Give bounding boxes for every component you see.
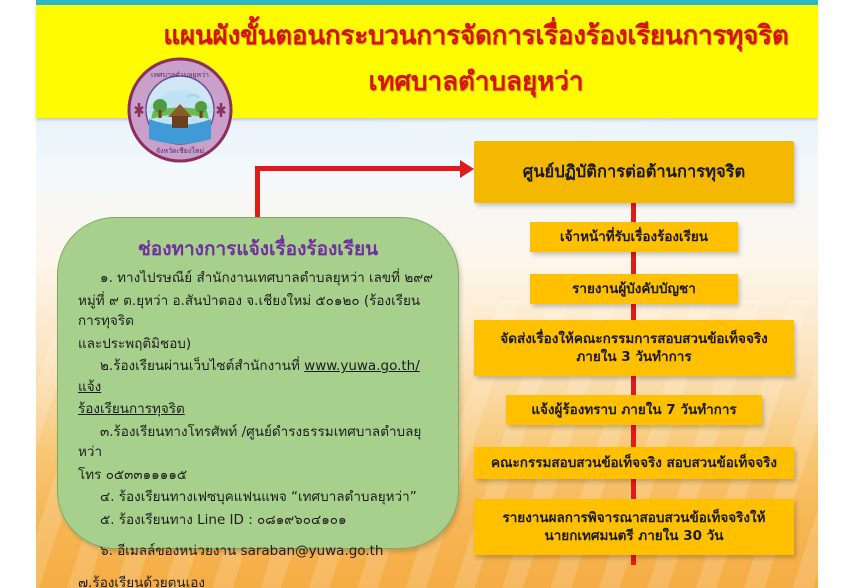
seal-icon: เทศบาลตำบลยุหว่า จังหวัดเชียงใหม่ (127, 57, 233, 163)
poster-canvas: แผนผังขั้นตอนกระบวนการจัดการเรื่องร้องเร… (0, 0, 850, 588)
connector-arrowhead (460, 160, 474, 178)
flow-step-4[interactable]: แจ้งผู้ร้องทราบ ภายใน 7 วันทำการ (506, 395, 762, 425)
channel-item-1-line3: และประพฤติมิชอบ) (78, 334, 442, 355)
flow-step-4-label: แจ้งผู้ร้องทราบ ภายใน 7 วันทำการ (531, 401, 736, 419)
svg-text:เทศบาลตำบลยุหว่า: เทศบาลตำบลยุหว่า (151, 71, 209, 79)
channel-item-5-line: ๕. ร้องเรียนทาง Line ID : ๐๘๑๙๖๐๔๑๐๑ (78, 510, 442, 531)
complaint-channels-panel: ช่องทางการแจ้งเรื่องร้องเรียน ๑. ทางไปรษ… (57, 217, 459, 549)
svg-text:จังหวัดเชียงใหม่: จังหวัดเชียงใหม่ (156, 146, 204, 155)
flow-step-5-label: คณะกรรมสอบสวนข้อเท็จจริง สอบสวนข้อเท็จจร… (491, 454, 777, 472)
flow-step-6-label-line2: นายกเทศมนตรี ภายใน 30 วัน (502, 527, 765, 545)
connector-step3-to-step4 (631, 374, 636, 397)
flow-step-3[interactable]: จัดส่งเรื่องให้คณะกรรมการสอบสวนข้อเท็จจร… (474, 320, 794, 376)
municipal-seal-logo: เทศบาลตำบลยุหว่า จังหวัดเชียงใหม่ (127, 57, 233, 163)
flow-step-3-label-line1: จัดส่งเรื่องให้คณะกรรมการสอบสวนข้อเท็จจร… (500, 330, 767, 348)
channel-item-7-inperson: ๗.ร้องเรียนด้วยตนเอง (78, 573, 442, 588)
channel-item-1-line1: ๑. ทางไปรษณีย์ สำนักงานเทศบาลตำบลยุหว่า … (78, 268, 442, 289)
flow-step-2[interactable]: รายงานผู้บังคับบัญชา (530, 274, 738, 304)
connector-step4-to-step5 (631, 423, 636, 449)
flow-step-3-label-line2: ภายใน 3 วันทำการ (500, 348, 767, 366)
flow-step-5[interactable]: คณะกรรมสอบสวนข้อเท็จจริง สอบสวนข้อเท็จจร… (474, 447, 794, 479)
channels-panel-title: ช่องทางการแจ้งเรื่องร้องเรียน (58, 234, 458, 264)
channel-item-4-facebook: ๔. ร้องเรียนทางเฟซบุคแฟนแพจ “เทศบาลตำบลย… (78, 487, 442, 508)
connector-elbow-vertical (255, 166, 260, 220)
channel-item-3: ๓.ร้องเรียนทางโทรศัพท์ /ศูนย์ดำรงธรรมเทศ… (78, 422, 442, 463)
flow-step-1[interactable]: เจ้าหน้าที่รับเรื่องร้องเรียน (530, 222, 738, 252)
flow-step-6[interactable]: รายงานผลการพิจารณาสอบสวนข้อเท็จจริงให้ น… (474, 499, 794, 555)
channel-item-2: ๒.ร้องเรียนผ่านเว็บไซต์สำนักงานที่ www.y… (78, 356, 442, 397)
connector-step5-to-step6 (631, 477, 636, 501)
flow-head-box[interactable]: ศูนย์ปฏิบัติการต่อต้านการทุจริต (474, 141, 794, 203)
connector-elbow-horizontal (255, 166, 467, 171)
channel-website-link-cont[interactable]: ร้องเรียนการทุจริต (78, 399, 442, 420)
flow-step-6-label-line1: รายงานผลการพิจารณาสอบสวนข้อเท็จจริงให้ (502, 509, 765, 527)
flow-step-1-label: เจ้าหน้าที่รับเรื่องร้องเรียน (560, 228, 708, 246)
channel-item-3-phone: โทร ๐๕๓๓๑๑๑๑๕ (78, 465, 442, 486)
connector-step1-to-step2 (631, 250, 636, 276)
flow-head-label: ศูนย์ปฏิบัติการต่อต้านการทุจริต (523, 161, 745, 183)
page-title: แผนผังขั้นตอนกระบวนการจัดการเรื่องร้องเร… (96, 21, 850, 52)
channels-list: ๑. ทางไปรษณีย์ สำนักงานเทศบาลตำบลยุหว่า … (78, 268, 442, 588)
channel-item-6-email: ๖. อีเมลล์ของหน่วยงาน saraban@yuwa.go.th (78, 541, 442, 562)
channel-item-1-line2: หมู่ที่ ๙ ต.ยุหว่า อ.สันป่าตอง จ.เชียงให… (78, 291, 442, 332)
connector-step2-to-step3 (631, 302, 636, 322)
flow-step-2-label: รายงานผู้บังคับบัญชา (572, 280, 696, 298)
channel-item-2-label: ๒.ร้องเรียนผ่านเว็บไซต์สำนักงานที่ (100, 358, 300, 374)
